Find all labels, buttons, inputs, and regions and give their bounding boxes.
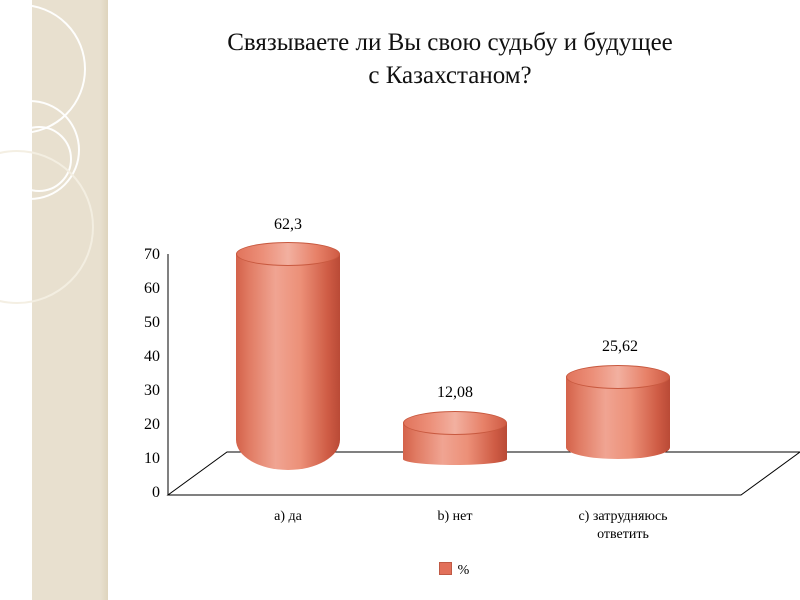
y-axis: 70 60 50 40 30 20 10 0 — [118, 210, 160, 600]
value-label-0: 62,3 — [228, 216, 348, 234]
y-tick-label: 0 — [120, 484, 160, 502]
chart-legend: % — [108, 562, 800, 579]
legend-label: % — [458, 563, 470, 579]
bar-top-ellipse — [403, 411, 507, 435]
category-label-2: c) затрудняюсь ответить — [548, 508, 698, 544]
slide-title: Связываете ли Вы свою судьбу и будущее с… — [120, 26, 780, 92]
slide-decoration — [0, 0, 108, 600]
y-tick-label: 60 — [120, 280, 160, 298]
bar-top-ellipse — [566, 365, 670, 389]
value-label-1: 12,08 — [395, 384, 515, 402]
decor-ring — [0, 150, 94, 304]
bar-body — [566, 377, 670, 459]
bar-series-2 — [566, 377, 670, 459]
legend-swatch-icon — [439, 562, 452, 575]
y-tick-label: 70 — [120, 246, 160, 264]
bar-series-1 — [403, 423, 507, 465]
y-tick-label: 40 — [120, 348, 160, 366]
y-tick-label: 20 — [120, 416, 160, 434]
y-tick-label: 30 — [120, 382, 160, 400]
chart: 70 60 50 40 30 20 10 0 62,3 a) да 12,08 … — [108, 210, 800, 600]
bar-top-ellipse — [236, 242, 340, 266]
category-label-0: a) да — [228, 508, 348, 526]
decor-band-edge — [100, 0, 108, 600]
bar-body — [236, 254, 340, 470]
category-label-1: b) нет — [395, 508, 515, 526]
y-tick-label: 10 — [120, 450, 160, 468]
y-tick-label: 50 — [120, 314, 160, 332]
bar-series-0 — [236, 254, 340, 470]
value-label-2: 25,62 — [560, 338, 680, 356]
